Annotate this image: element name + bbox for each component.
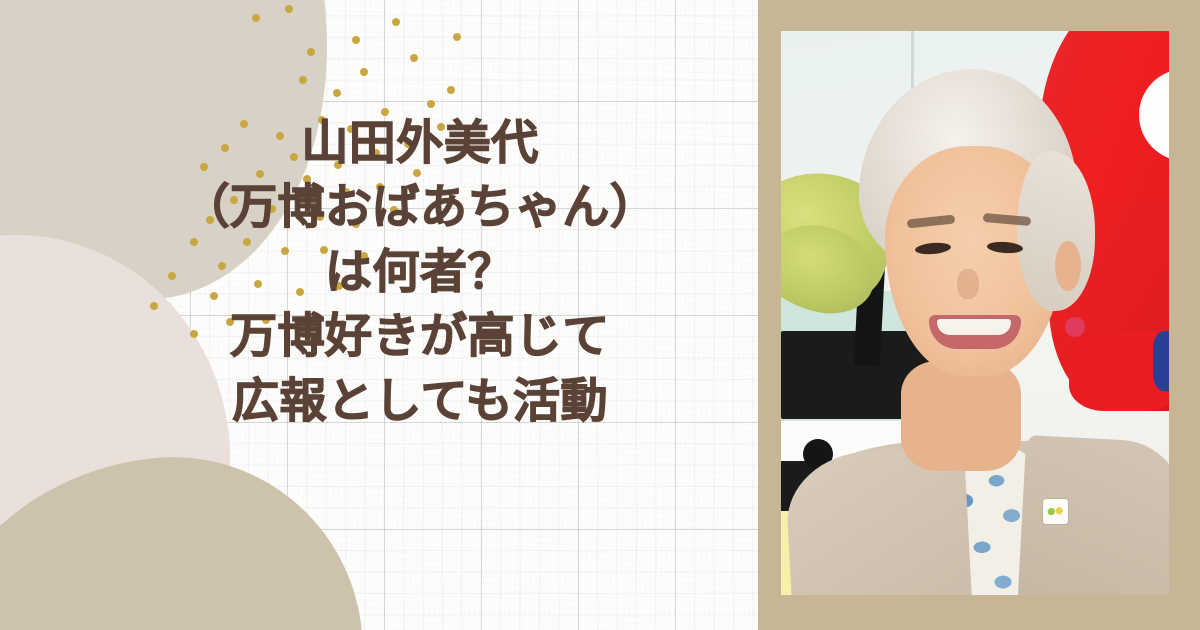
portrait-photo (781, 31, 1169, 595)
thumbnail-canvas: 山田外美代 （万博おばあちゃん） は何者？ 万博好きが高じて 広報としても活動 (0, 0, 1200, 630)
confetti-dot (447, 86, 455, 94)
confetti-dot (360, 68, 368, 76)
person-nose (957, 269, 979, 299)
person-ear (1055, 241, 1081, 291)
confetti-dot (285, 5, 293, 13)
confetti-dot (453, 33, 461, 41)
person-earring (1065, 317, 1085, 337)
confetti-dot (333, 89, 341, 97)
confetti-dot (299, 76, 307, 84)
person-pin-badge-mark (1047, 505, 1064, 517)
person-teeth (937, 319, 1011, 335)
confetti-dot (252, 14, 260, 22)
person-neck (901, 361, 1021, 471)
confetti-dot (410, 54, 418, 62)
confetti-dot (307, 48, 315, 56)
mascot-blue-accent (1153, 331, 1169, 391)
person-jacket-right (1016, 435, 1169, 595)
page-title: 山田外美代 （万博おばあちゃん） は何者？ 万博好きが高じて 広報としても活動 (150, 112, 690, 434)
confetti-dot (352, 36, 360, 44)
confetti-dot (427, 100, 435, 108)
confetti-dot (392, 18, 400, 26)
